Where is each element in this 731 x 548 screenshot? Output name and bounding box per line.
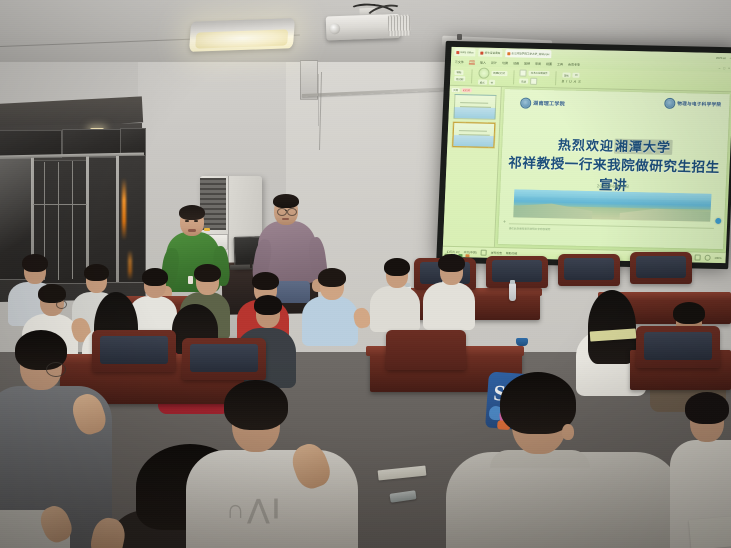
window-mullion-vertical-3 (116, 154, 119, 282)
audience-far-7-hair (384, 258, 410, 276)
left-institution-name: 湖南理工学院 (533, 100, 565, 108)
status-spellcheck[interactable]: 拼写检查 (491, 251, 502, 255)
college-seal-icon (664, 98, 675, 109)
audience-far-4-hair (194, 264, 221, 282)
chair-cushion-mid-2 (492, 260, 542, 282)
font-name-select[interactable]: 等线 (562, 73, 571, 78)
audience-far-7-torso (370, 286, 420, 332)
menu-item-home[interactable]: 开始 (469, 59, 475, 65)
sorter-view-icon[interactable] (694, 254, 700, 260)
audience-mid-5-hair (588, 290, 636, 364)
audience-far-3-hair (142, 268, 168, 286)
menu-item-animations[interactable]: 动画 (513, 61, 519, 65)
wps-logo-icon (456, 51, 459, 54)
spellcheck-icon[interactable] (481, 250, 487, 256)
ribbon-group-ai: 文本AI生成演示 形状 (519, 69, 549, 85)
ribbon-group-clipboard: 粘贴 格式刷 (454, 70, 466, 82)
ribbon-group-slide: 新建幻灯片 版式 节 (478, 67, 508, 85)
left-institution-logo: 湖南理工学院 (520, 97, 565, 109)
speaker-mauve-hair (273, 194, 299, 208)
slide-title-highlight: 湘潭大学 (614, 139, 673, 155)
thumbnail-line-2 (459, 106, 490, 108)
speaker-green-badge (188, 276, 193, 284)
document-tab-2[interactable]: 长江师范学院工学大学_宣讲.pptx (505, 49, 552, 58)
add-content-icon[interactable]: + (503, 219, 506, 225)
right-institution-name: 物理与电子科学学院 (677, 101, 721, 108)
tabbar-right-actions: WPS AI ○ (716, 56, 731, 60)
thumbnail-line-1 (460, 102, 488, 104)
chair-cushion-row2-2 (190, 344, 258, 372)
window-exterior-light-2 (128, 250, 132, 280)
thumbnail-2-line-2 (458, 134, 489, 136)
status-accessibility[interactable]: 辅助功能 (506, 251, 517, 255)
slide-thumbnail-2[interactable] (452, 122, 495, 148)
ai-icon (520, 69, 527, 76)
audience-far-5-hair (252, 272, 279, 290)
doc-icon-2 (507, 52, 510, 55)
projection-screen: WPS Office 招生宣讲通知 长江师范学院工学大学_宣讲.pptx WPS… (436, 41, 731, 269)
font-color-button[interactable]: A (574, 79, 577, 83)
university-seal-icon (520, 97, 531, 108)
menu-item-file[interactable]: 三文件 (455, 60, 464, 64)
notebook-on-desk (378, 466, 427, 481)
document-tab-1[interactable]: 招生宣讲通知 (479, 49, 503, 58)
ceiling-projector (325, 7, 412, 42)
doc-icon-1 (481, 51, 484, 54)
microphone-stand (250, 258, 252, 268)
font-size-select[interactable]: 18 (573, 73, 580, 78)
strikethrough-button[interactable]: S (578, 80, 581, 84)
speaker-mauve-mouth (282, 218, 289, 220)
layout-button[interactable]: 版式 (478, 80, 487, 85)
audience-mid-1-glasses-icon (56, 300, 67, 309)
glasses-bridge (285, 210, 287, 211)
bottle-cap-3 (510, 280, 515, 284)
window-grid-bar-2 (58, 162, 59, 280)
projection-screen-surface: WPS Office 招生宣讲通知 长江师范学院工学大学_宣讲.pptx WPS… (442, 47, 731, 263)
ribbon-row-painter: 格式刷 (454, 76, 465, 81)
ribbon-separator-1 (471, 69, 472, 83)
window-grid-bar-horizontal (33, 204, 87, 205)
glasses-icon-right-lens (287, 208, 297, 216)
wps-ai-button[interactable]: WPS AI (716, 56, 726, 60)
speaker-green-eye-left (185, 220, 189, 222)
right-institution-logo: 物理与电子科学学院 (664, 98, 722, 110)
audience-front-gray-glasses-icon (46, 362, 66, 377)
slides-tab[interactable]: 幻灯片 (461, 88, 471, 92)
paste-button[interactable]: 粘贴 (454, 70, 463, 75)
ribbon-row-ai: 文本AI生成演示 (520, 69, 550, 77)
audience-front-light-ear (562, 424, 574, 440)
slide-title-prefix: 热烈欢迎 (558, 137, 615, 153)
window-grid-bar-3 (72, 161, 73, 279)
chair-back-row2-3 (386, 330, 466, 370)
notebook-bottom-right (689, 516, 731, 548)
mobile-phone-on-desk (390, 490, 417, 503)
menu-item-slideshow[interactable]: 放映 (524, 61, 530, 65)
photo-left-landmass (513, 203, 592, 219)
menu-row-right: – □ × (719, 65, 730, 69)
ribbon-group-font: 等线 18 B I U A S (562, 73, 581, 84)
chair-cushion-mid-3 (564, 258, 614, 280)
document-tab-1-label: 招生宣讲通知 (485, 51, 501, 55)
chair-cushion-row2-1 (100, 336, 168, 364)
speaker-green-hair (179, 205, 205, 220)
ribbon-separator-3 (555, 71, 556, 85)
thumbnail-2-line-1 (458, 130, 486, 132)
status-zoom-level[interactable]: 100% (714, 256, 721, 260)
audience-far-1-hair (22, 254, 48, 272)
slide-campus-aerial-photo (513, 189, 711, 221)
wps-app-tab-label: WPS Office (460, 51, 473, 54)
speaker-green-mouth (188, 229, 196, 232)
wps-app-tab[interactable]: WPS Office (454, 48, 476, 56)
lecture-hall-photo: WPS Office 招生宣讲通知 长江师范学院工学大学_宣讲.pptx WPS… (0, 0, 731, 548)
window-exterior-light (122, 178, 126, 240)
ribbon-row-shape: 形状 (519, 78, 549, 86)
audience-mid-4-hair (254, 295, 282, 315)
menu-item-member[interactable]: 会员专享 (568, 62, 580, 66)
ceiling-light-panel (189, 18, 295, 52)
minimize-icon[interactable]: – (719, 65, 721, 69)
audience-right-edge-hair (685, 392, 729, 424)
speaker-green-eye-right (194, 220, 198, 222)
menu-item-transitions[interactable]: 切换 (502, 61, 508, 65)
curtain-pull-cord-secondary (318, 74, 319, 126)
ribbon-row-fontstyle: B I U A S (562, 79, 581, 83)
menu-item-tools[interactable]: 工具 (557, 62, 563, 66)
outline-tab[interactable]: 大纲 (452, 88, 460, 92)
audience-far-8-hair (438, 254, 465, 272)
water-bottle-3 (509, 283, 516, 301)
slide-cloud-sync-icon[interactable] (715, 218, 721, 224)
ceiling-light-diffuser (195, 29, 288, 48)
format-painter-button[interactable]: 格式刷 (454, 76, 465, 81)
chair-cushion-row2-4 (644, 332, 712, 360)
slide-footer-note: 请在此处添加演示说明文字内容说明 (509, 226, 551, 231)
thumbnail-pane-header: 大纲 幻灯片 (452, 88, 499, 93)
italic-button[interactable]: I (566, 79, 567, 83)
menu-item-insert[interactable]: 插入 (480, 60, 486, 64)
new-slide-icon[interactable] (478, 67, 489, 78)
ribbon-row-newslide: 新建幻灯片 (478, 67, 507, 79)
cup-on-desk (516, 338, 528, 346)
projection-screen-knob (457, 34, 462, 40)
slide-canvas[interactable]: 湖南理工学院 物理与电子科学学院 热烈欢迎湘潭大学 祁祥教授一行来我院做研究生招… (498, 89, 730, 249)
audience-front-white-hair (224, 380, 288, 430)
maximize-icon[interactable]: □ (723, 66, 725, 70)
document-tab-2-label: 长江师范学院工学大学_宣讲.pptx (511, 51, 549, 56)
slide-thumbnail-1[interactable] (453, 94, 496, 120)
audience-far-2-hair (84, 264, 109, 281)
ribbon-separator-2 (513, 70, 514, 84)
ribbon-row-paste: 粘贴 (454, 70, 465, 75)
menu-item-view[interactable]: 视图 (546, 62, 552, 66)
menu-item-design[interactable]: 设计 (491, 60, 497, 64)
bold-button[interactable]: B (562, 79, 565, 83)
slide-thumbnail-pane[interactable]: 大纲 幻灯片 (443, 86, 502, 247)
audience-far-8-torso (423, 282, 475, 330)
audience-mid-6-hair (673, 302, 705, 324)
underline-button[interactable]: U (569, 79, 572, 83)
section-button[interactable]: 节 (489, 80, 496, 85)
audience-far-6-hair (318, 268, 346, 287)
air-conditioner-indicator-light (204, 228, 210, 231)
window-mullion-vertical-2 (86, 155, 89, 283)
close-icon[interactable]: × (728, 66, 730, 70)
slideshow-icon[interactable] (704, 255, 710, 261)
ai-generate-button[interactable]: 文本AI生成演示 (529, 70, 550, 75)
ribbon-row-layout: 版式 节 (478, 80, 507, 86)
audience-far-6-torso (302, 296, 358, 346)
menu-item-review[interactable]: 审阅 (535, 61, 541, 65)
audience-front-white-print: ∩⋀Ⅰ (226, 494, 283, 525)
shape-button[interactable]: 形状 (519, 79, 528, 84)
ribbon-row-fontname: 等线 18 (562, 73, 581, 78)
new-slide-button[interactable]: 新建幻灯片 (491, 71, 507, 76)
arrange-icon[interactable] (530, 78, 537, 85)
chair-cushion-mid-4 (636, 256, 686, 278)
